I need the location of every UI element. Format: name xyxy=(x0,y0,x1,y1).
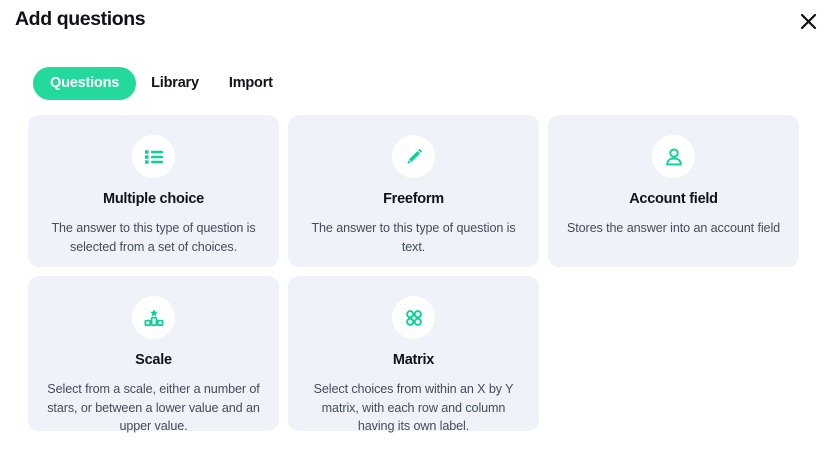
tab-bar: Questions Library Import xyxy=(33,67,288,100)
card-description: Select choices from within an X by Y mat… xyxy=(304,380,523,435)
card-title: Freeform xyxy=(383,191,444,208)
grid-circles-icon xyxy=(392,296,435,339)
card-description: The answer to this type of question is t… xyxy=(304,219,523,256)
card-title: Multiple choice xyxy=(103,191,204,208)
card-scale[interactable]: Scale Select from a scale, either a numb… xyxy=(28,276,279,431)
tab-questions[interactable]: Questions xyxy=(33,67,136,100)
star-bars-icon xyxy=(132,296,175,339)
card-description: Select from a scale, either a number of … xyxy=(44,380,263,435)
card-freeform[interactable]: Freeform The answer to this type of ques… xyxy=(288,115,539,267)
card-description: The answer to this type of question is s… xyxy=(44,219,263,256)
person-icon xyxy=(652,135,695,178)
tab-library[interactable]: Library xyxy=(136,67,214,100)
card-title: Matrix xyxy=(393,352,434,369)
card-description: Stores the answer into an account field xyxy=(567,219,780,237)
tab-import[interactable]: Import xyxy=(214,67,288,100)
close-button[interactable] xyxy=(794,7,822,35)
card-matrix[interactable]: Matrix Select choices from within an X b… xyxy=(288,276,539,431)
dialog-header: Add questions xyxy=(0,0,834,46)
close-icon xyxy=(799,12,818,31)
list-icon xyxy=(132,135,175,178)
card-title: Account field xyxy=(629,191,718,208)
page-title: Add questions xyxy=(15,8,145,31)
pencil-icon xyxy=(392,135,435,178)
card-multiple-choice[interactable]: Multiple choice The answer to this type … xyxy=(28,115,279,267)
card-account-field[interactable]: Account field Stores the answer into an … xyxy=(548,115,799,267)
question-type-grid: Multiple choice The answer to this type … xyxy=(28,115,800,431)
card-title: Scale xyxy=(135,352,172,369)
